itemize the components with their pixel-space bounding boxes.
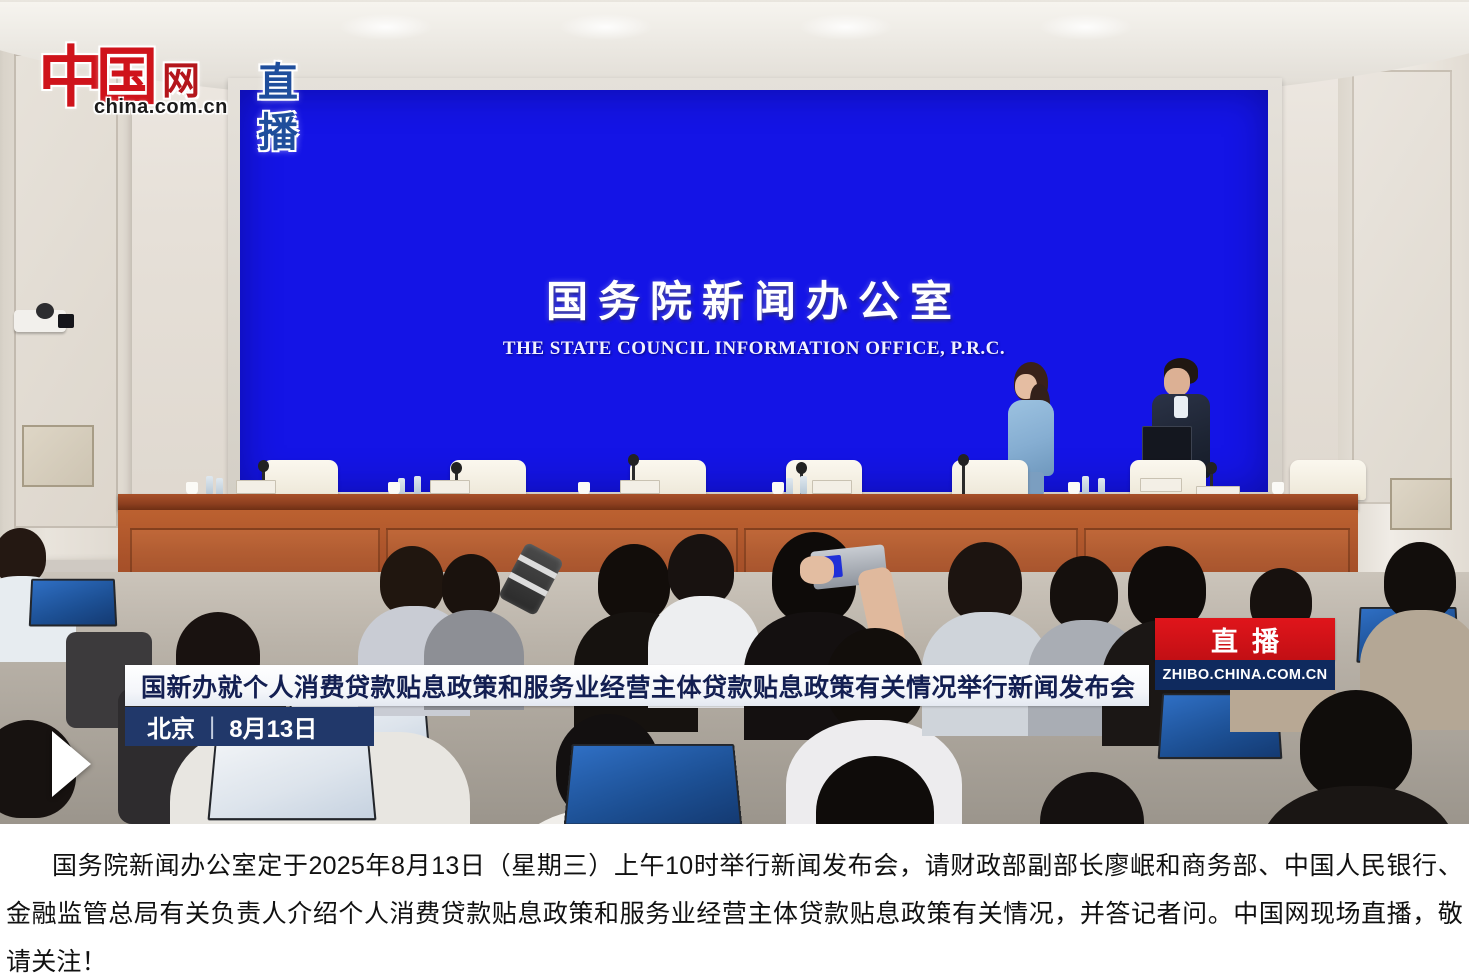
stage-led-screen: 国务院新闻办公室 THE STATE COUNCIL INFORMATION O… [240, 90, 1268, 492]
live-badge-label: 直播 [1155, 618, 1335, 660]
podium-nameplate [430, 480, 470, 494]
logo-url: china.com.cn [94, 96, 228, 119]
play-button[interactable] [52, 731, 91, 797]
water-bottle [800, 476, 807, 494]
wall-camera-icon [14, 310, 66, 332]
podium-nameplate [620, 480, 660, 494]
location-date-separator: | [195, 713, 229, 741]
podium-nameplate [1140, 478, 1182, 492]
page-root: 国务院新闻办公室 THE STATE COUNCIL INFORMATION O… [0, 0, 1469, 980]
wall-vent-left [22, 425, 94, 487]
live-badge: 直播 ZHIBO.CHINA.COM.CN [1155, 618, 1335, 690]
podium-nameplate [236, 480, 276, 494]
logo-live-label: 直播 [250, 58, 306, 158]
laptop [29, 579, 117, 627]
headline-banner: 国新办就个人消费贷款贴息政策和服务业经营主体贷款贴息政策有关情况举行新闻发布会 [125, 665, 1149, 706]
water-bottle [414, 476, 421, 494]
location-date-bar: 北京 | 8月13日 [125, 707, 374, 746]
location-label: 北京 [125, 709, 195, 744]
date-label: 8月13日 [229, 709, 317, 744]
podium-nameplate [812, 480, 852, 494]
water-bottle [206, 476, 213, 494]
water-bottle [1082, 476, 1089, 494]
caption-area: 国务院新闻办公室定于2025年8月13日（星期三）上午10时举行新闻发布会，请财… [0, 824, 1469, 980]
headline-text: 国新办就个人消费贷款贴息政策和服务业经营主体贷款贴息政策有关情况举行新闻发布会 [125, 668, 1136, 704]
caption-text: 国务院新闻办公室定于2025年8月13日（星期三）上午10时举行新闻发布会，请财… [6, 842, 1463, 980]
channel-logo: 中 国 网 china.com.cn 直播 [38, 28, 198, 110]
live-badge-url: ZHIBO.CHINA.COM.CN [1155, 660, 1335, 690]
screen-title-cn: 国务院新闻办公室 [240, 268, 1268, 329]
laptop [564, 744, 742, 824]
photographer-hand [800, 556, 834, 584]
podium-microphone [962, 462, 965, 496]
video-player[interactable]: 国务院新闻办公室 THE STATE COUNCIL INFORMATION O… [0, 0, 1469, 824]
screen-title-en: THE STATE COUNCIL INFORMATION OFFICE, P.… [240, 338, 1268, 360]
